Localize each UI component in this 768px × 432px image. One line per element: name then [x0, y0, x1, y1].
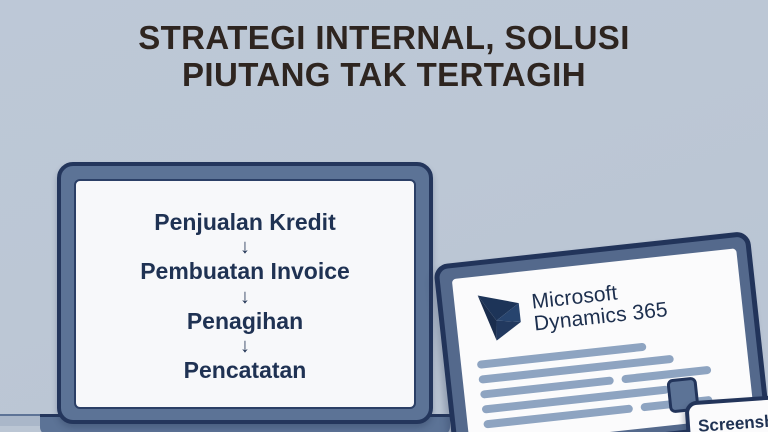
flow-arrow-1-icon: ↓: [240, 237, 250, 257]
flowchart-screen: Penjualan Kredit ↓ Pembuatan Invoice ↓ P…: [74, 179, 416, 409]
page-title: STRATEGI INTERNAL, SOLUSI PIUTANG TAK TE…: [0, 20, 768, 94]
placeholder-bar: [621, 366, 711, 384]
flow-arrow-3-icon: ↓: [240, 336, 250, 356]
flow-step-3: Penagihan: [187, 309, 303, 333]
screenshot-chip: Screensh: [684, 394, 768, 432]
flowchart-card: Penjualan Kredit ↓ Pembuatan Invoice ↓ P…: [57, 162, 433, 424]
dynamics-365-branding: Microsoft Dynamics 365: [475, 272, 669, 344]
screenshot-chip-label: Screensh: [697, 411, 768, 432]
flow-step-4: Pencatatan: [184, 358, 307, 382]
flow-arrow-2-icon: ↓: [240, 287, 250, 307]
dynamics-365-wordmark: Microsoft Dynamics 365: [531, 277, 669, 334]
flowchart-steps: Penjualan Kredit ↓ Pembuatan Invoice ↓ P…: [76, 181, 414, 407]
flow-step-2: Pembuatan Invoice: [140, 259, 350, 283]
slide-canvas: STRATEGI INTERNAL, SOLUSI PIUTANG TAK TE…: [0, 0, 768, 432]
dynamics-365-logo-icon: [475, 288, 526, 345]
flow-step-1: Penjualan Kredit: [154, 210, 335, 234]
title-line-2: PIUTANG TAK TERTAGIH: [0, 57, 768, 94]
title-line-1: STRATEGI INTERNAL, SOLUSI: [0, 20, 768, 57]
